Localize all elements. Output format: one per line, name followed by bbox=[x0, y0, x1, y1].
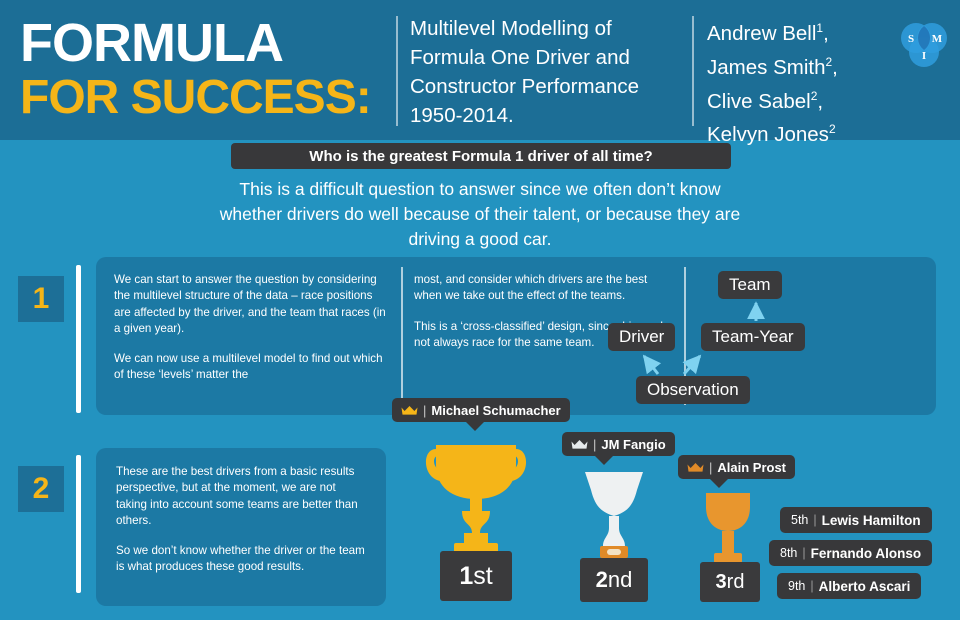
section-2-number-badge: 2 bbox=[18, 466, 64, 512]
arrow-observation-to-driver bbox=[644, 356, 658, 374]
trophy-bronze-icon bbox=[692, 489, 764, 571]
ranking-chip-9th: 9th | Alberto Ascari bbox=[777, 573, 921, 599]
ranking-chip-8th: 8th | Fernando Alonso bbox=[769, 540, 932, 566]
header: FORMULA FOR SUCCESS: Multilevel Modellin… bbox=[0, 0, 960, 140]
podium-base-1st: 1st bbox=[440, 551, 512, 601]
ranking-separator-5th: | bbox=[813, 513, 816, 527]
podium-place-2nd: 2nd bbox=[596, 567, 633, 593]
podium-place-3rd: 3rd bbox=[716, 571, 745, 594]
author-1: James Smith2, bbox=[707, 48, 897, 82]
ranking-driver-5th: Lewis Hamilton bbox=[822, 513, 921, 528]
svg-text:M: M bbox=[932, 33, 943, 45]
intro-text: This is a difficult question to answer s… bbox=[215, 177, 745, 252]
author-0: Andrew Bell1, bbox=[707, 14, 897, 48]
ranking-chip-5th: 5th | Lewis Hamilton bbox=[780, 507, 932, 533]
podium-nametag-2nd: | JM Fangio bbox=[562, 432, 675, 456]
header-divider-2 bbox=[692, 16, 694, 126]
nametag-separator-2: | bbox=[593, 437, 596, 452]
question-banner: Who is the greatest Formula 1 driver of … bbox=[231, 143, 731, 169]
trophy-silver-icon bbox=[575, 468, 653, 568]
author-2: Clive Sabel2, bbox=[707, 82, 897, 116]
ranking-driver-9th: Alberto Ascari bbox=[819, 579, 911, 594]
subtitle: Multilevel Modelling of Formula One Driv… bbox=[410, 14, 690, 130]
ranking-position-8th: 8th bbox=[780, 546, 797, 560]
ranking-driver-8th: Fernando Alonso bbox=[811, 546, 922, 561]
podium-base-3rd: 3rd bbox=[700, 562, 760, 602]
nametag-pointer-3rd bbox=[710, 479, 728, 488]
podium-driver-3rd: Alain Prost bbox=[717, 460, 786, 475]
podium-nametag-1st: | Michael Schumacher bbox=[392, 398, 570, 422]
level-node-driver: Driver bbox=[608, 323, 675, 351]
section-1-number-badge: 1 bbox=[18, 276, 64, 322]
title-block: FORMULA FOR SUCCESS: bbox=[20, 14, 410, 124]
ranking-separator-8th: | bbox=[802, 546, 805, 560]
question-banner-text: Who is the greatest Formula 1 driver of … bbox=[309, 148, 652, 165]
author-list: Andrew Bell1, James Smith2, Clive Sabel2… bbox=[707, 14, 897, 149]
podium-driver-1st: Michael Schumacher bbox=[431, 403, 560, 418]
arrow-observation-to-team-year bbox=[684, 356, 700, 374]
title-line-1: FORMULA bbox=[20, 14, 410, 72]
section-1-rule bbox=[76, 265, 81, 413]
podium-base-2nd: 2nd bbox=[580, 558, 648, 602]
podium-driver-2nd: JM Fangio bbox=[601, 437, 665, 452]
section-1-divider-1 bbox=[401, 267, 403, 405]
crown-silver-icon bbox=[571, 439, 588, 450]
infographic-page: FORMULA FOR SUCCESS: Multilevel Modellin… bbox=[0, 0, 960, 620]
nametag-separator-3: | bbox=[709, 460, 712, 475]
podium-place-1st: 1st bbox=[459, 562, 492, 591]
podium-nametag-3rd: | Alain Prost bbox=[678, 455, 795, 479]
ranking-position-5th: 5th bbox=[791, 513, 808, 527]
section-2-rule bbox=[76, 455, 81, 593]
header-divider-1 bbox=[396, 16, 398, 126]
ranking-position-9th: 9th bbox=[788, 579, 805, 593]
nametag-pointer-2nd bbox=[595, 456, 613, 465]
section-2-panel: These are the best drivers from a basic … bbox=[96, 448, 386, 606]
svg-text:S: S bbox=[908, 33, 914, 45]
level-node-team: Team bbox=[718, 271, 782, 299]
svg-text:I: I bbox=[922, 50, 926, 62]
nametag-pointer-1st bbox=[466, 422, 484, 431]
level-node-team-year: Team-Year bbox=[701, 323, 805, 351]
level-node-observation: Observation bbox=[636, 376, 750, 404]
section-1-panel: We can start to answer the question by c… bbox=[96, 257, 936, 415]
title-line-2: FOR SUCCESS: bbox=[20, 72, 410, 124]
author-3: Kelvyn Jones2 bbox=[707, 115, 897, 149]
section-1-text-col-1: We can start to answer the question by c… bbox=[114, 272, 389, 384]
ranking-separator-9th: | bbox=[810, 579, 813, 593]
crown-bronze-icon bbox=[687, 462, 704, 473]
section-2-text: These are the best drivers from a basic … bbox=[116, 464, 366, 576]
trophy-gold-icon bbox=[424, 437, 528, 555]
nametag-separator-1: | bbox=[423, 403, 426, 418]
venn-logo-icon: S M I bbox=[898, 18, 950, 70]
crown-gold-icon bbox=[401, 405, 418, 416]
